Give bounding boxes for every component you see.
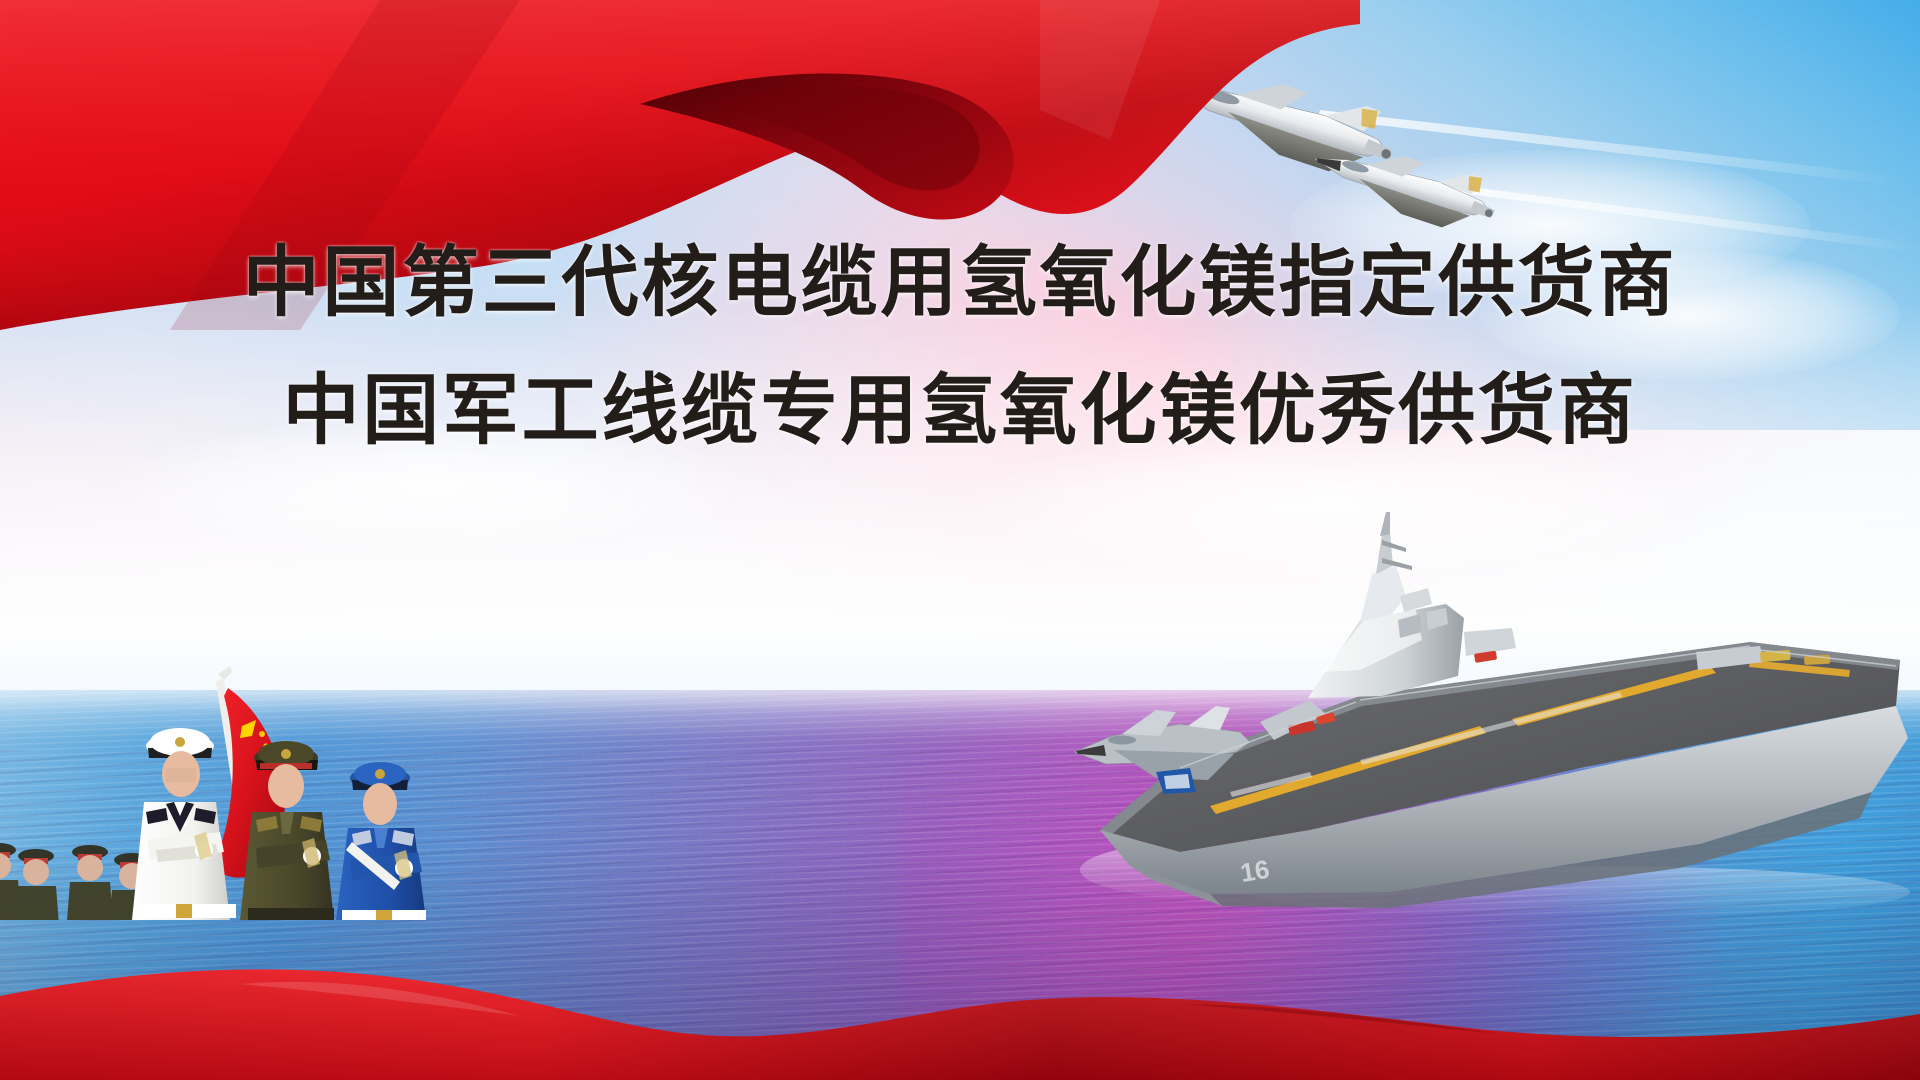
red-flag-ribbon-bottom bbox=[0, 900, 1920, 1080]
aircraft-carrier: 16 bbox=[1060, 500, 1920, 930]
headline-line-1: 中国第三代核电缆用氢氧化镁指定供货商 bbox=[0, 232, 1920, 336]
island-superstructure bbox=[1308, 512, 1464, 698]
honor-guard-group bbox=[0, 520, 500, 920]
promotional-banner: 16 bbox=[0, 0, 1920, 1080]
hull-number: 16 bbox=[1238, 854, 1271, 888]
honor-guard-airforce bbox=[336, 762, 426, 920]
headline-line-2: 中国军工线缆专用氢氧化镁优秀供货商 bbox=[0, 360, 1920, 464]
headline-block: 中国第三代核电缆用氢氧化镁指定供货商 中国军工线缆专用氢氧化镁优秀供货商 bbox=[0, 232, 1920, 464]
honor-guard-navy bbox=[132, 728, 236, 920]
